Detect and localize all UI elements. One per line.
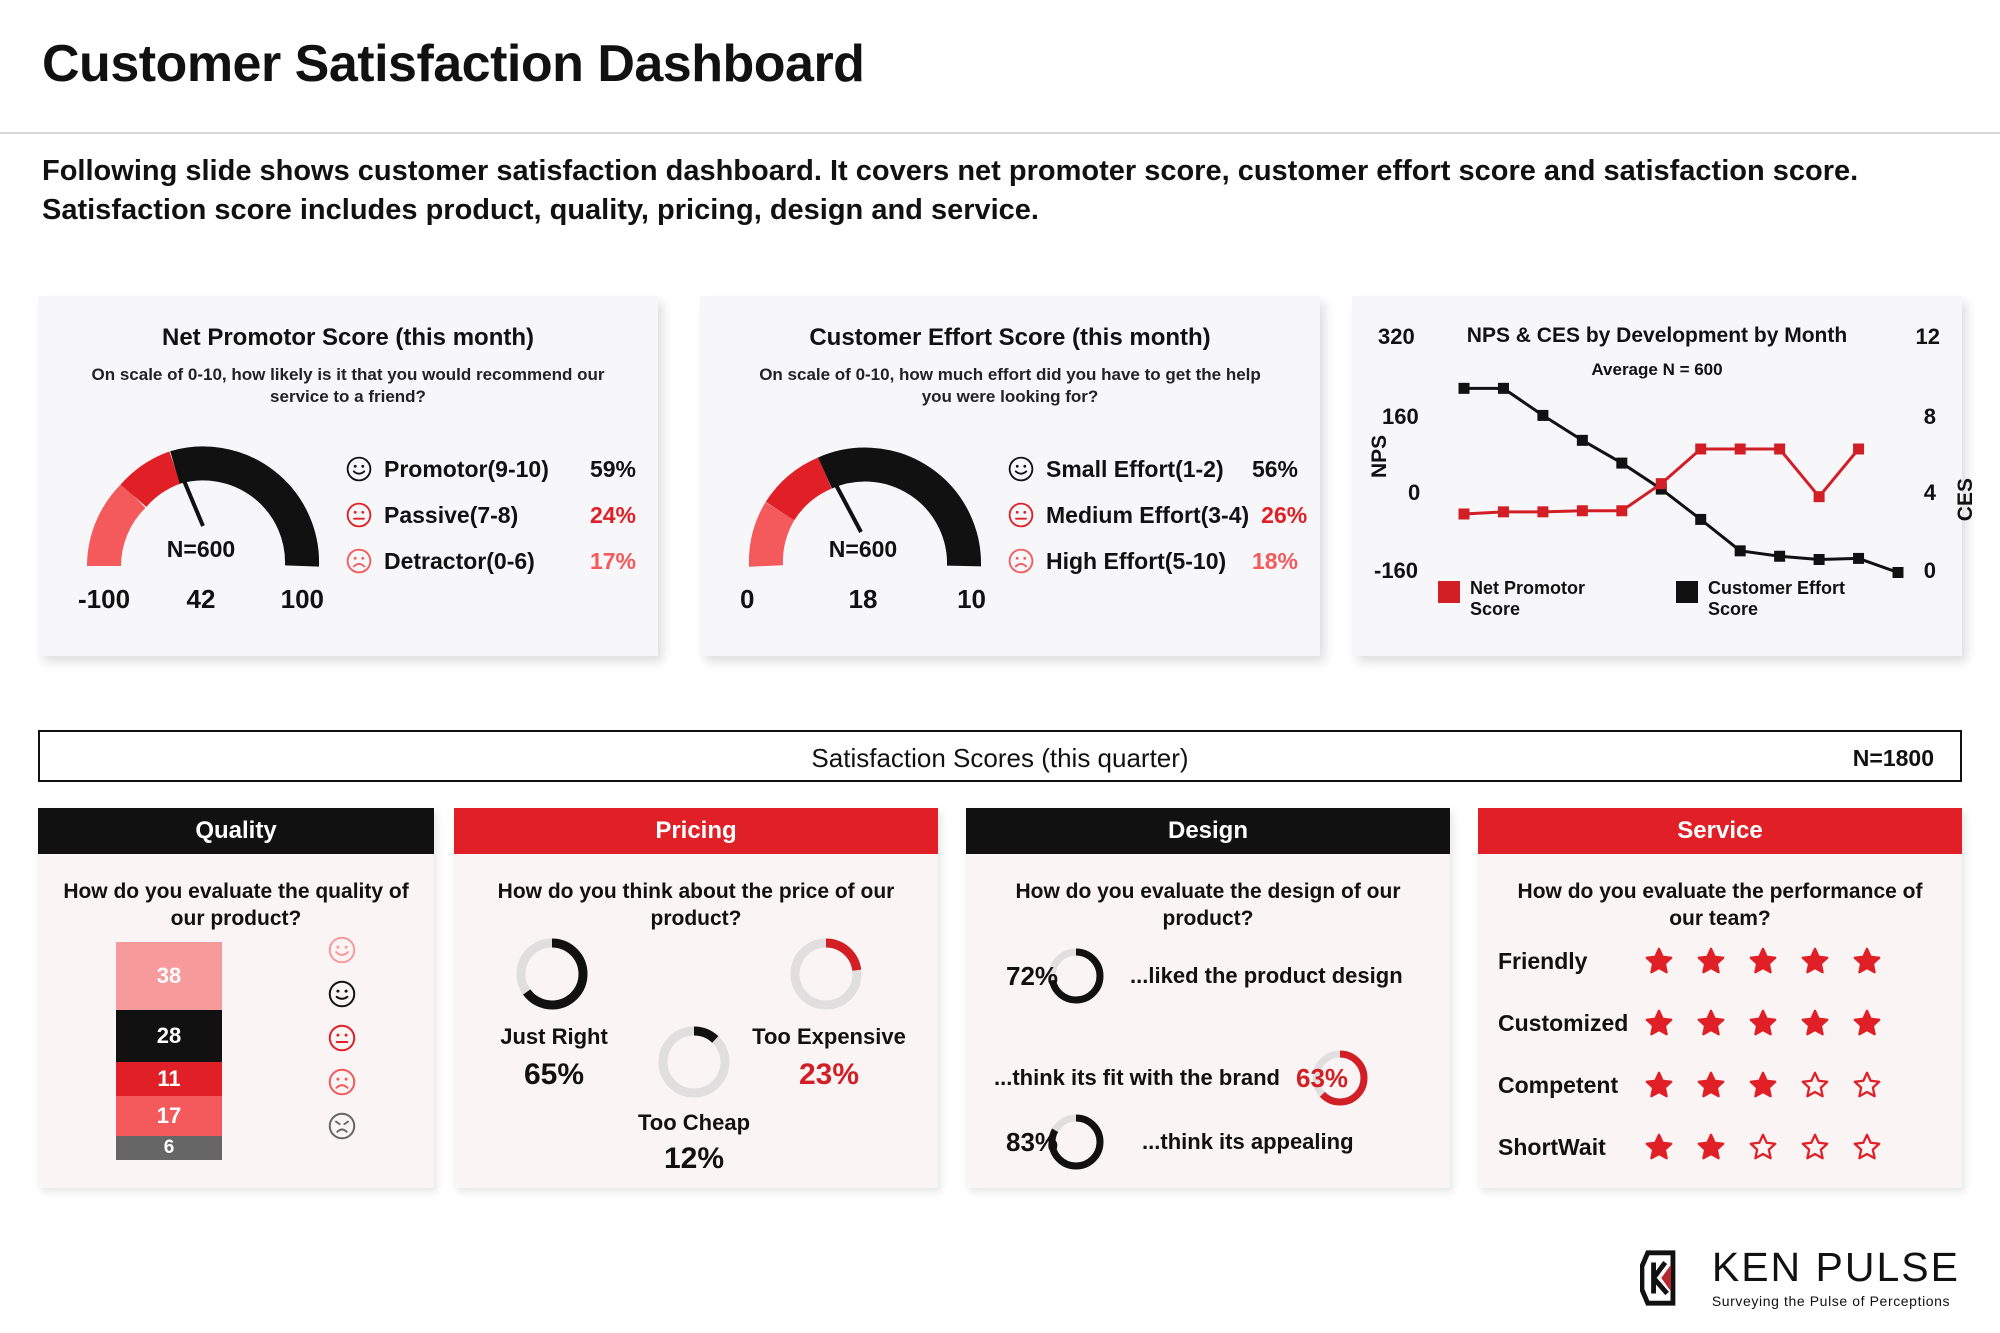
quality-question: How do you evaluate the quality of our p…: [38, 878, 434, 933]
service-question: How do you evaluate the performance of o…: [1478, 878, 1962, 933]
sad-face-icon: [328, 1068, 356, 1096]
line-chart-y-axis-label: NPS: [1368, 435, 1392, 478]
satisfaction-bar-title: Satisfaction Scores (this quarter): [40, 743, 1960, 774]
data-point-marker: [1774, 444, 1785, 455]
smile-face-icon: [346, 456, 372, 482]
donut-value-too-cheap: 12%: [604, 1142, 784, 1176]
donut-value-just-right: 65%: [464, 1058, 644, 1092]
pricing-question: How do you think about the price of our …: [454, 878, 938, 933]
quality-stacked-bar: 38 28 11 17 6: [116, 942, 222, 1160]
star-filled-icon: [1644, 1132, 1674, 1162]
y-tick-0: 0: [1408, 480, 1420, 506]
star-filled-icon: [1696, 1070, 1726, 1100]
ces-legend: Small Effort(1-2) 56% Medium Effort(3-4)…: [1008, 446, 1298, 584]
service-label: Friendly: [1498, 948, 1638, 975]
stack-segment: 6: [116, 1136, 222, 1160]
star-empty-icon: [1852, 1132, 1882, 1162]
star-filled-icon: [1800, 946, 1830, 976]
star-empty-icon: [1852, 1070, 1882, 1100]
design-percent: 63%: [1296, 1063, 1348, 1094]
star-empty-icon: [1748, 1132, 1778, 1162]
design-row-appealing: 83% ...think its appealing: [1006, 1110, 1354, 1174]
legend-label: Customer Effort Score: [1708, 578, 1858, 619]
ces-swatch-icon: [1676, 581, 1698, 603]
smile-face-icon: [328, 980, 356, 1008]
logo-text-block: KEN PULSE Surveying the Pulse of Percept…: [1712, 1247, 1960, 1309]
nps-ces-line-chart-card: NPS & CES by Development by Month Averag…: [1352, 296, 1962, 656]
stack-segment: 28: [116, 1010, 222, 1062]
legend-percent: 17%: [590, 548, 636, 575]
service-card: Service How do you evaluate the performa…: [1478, 808, 1962, 1188]
design-text: ...liked the product design: [1130, 963, 1403, 989]
legend-percent: 26%: [1261, 502, 1307, 529]
logo-name: KEN PULSE: [1712, 1247, 1960, 1288]
legend-label: Promotor(9-10): [384, 456, 549, 483]
data-point-marker: [1853, 444, 1864, 455]
satisfaction-scores-bar: Satisfaction Scores (this quarter) N=180…: [38, 730, 1962, 782]
data-point-marker: [1814, 554, 1825, 565]
star-filled-icon: [1748, 1070, 1778, 1100]
line-chart-plot: [1456, 332, 1906, 592]
y2-tick-4: 4: [1924, 480, 1936, 506]
page-description: Following slide shows customer satisfact…: [42, 152, 1922, 229]
donut-value-too-expensive: 23%: [734, 1058, 924, 1092]
donut-too-cheap: [654, 1022, 734, 1102]
quality-face-scale: [328, 936, 356, 1140]
star-rating: [1644, 1070, 1882, 1100]
star-filled-icon: [1748, 1008, 1778, 1038]
design-row-liked: 72% ...liked the product design: [1006, 944, 1403, 1008]
legend-label: Medium Effort(3-4): [1046, 502, 1249, 529]
star-filled-icon: [1644, 1070, 1674, 1100]
data-point-marker: [1814, 491, 1825, 502]
nps-gauge: -100 100 N=600 42: [56, 416, 346, 636]
legend-percent: 18%: [1252, 548, 1298, 575]
nps-legend: Promotor(9-10) 59% Passive(7-8) 24% De: [346, 446, 636, 584]
service-label: ShortWait: [1498, 1134, 1638, 1161]
line-chart-y2-axis-label: CES: [1954, 478, 1978, 521]
net-promotor-score-card: Net Promotor Score (this month) On scale…: [38, 296, 658, 656]
ces-gauge: 0 10 N=600 18: [718, 416, 1008, 636]
ces-card-title: Customer Effort Score (this month): [700, 324, 1320, 352]
page-title: Customer Satisfaction Dashboard: [42, 34, 864, 94]
legend-item-detractor: Detractor(0-6) 17%: [346, 538, 636, 584]
data-point-marker: [1853, 553, 1864, 564]
data-point-marker: [1735, 444, 1746, 455]
legend-item-passive: Passive(7-8) 24%: [346, 492, 636, 538]
star-filled-icon: [1748, 946, 1778, 976]
quality-card: Quality How do you evaluate the quality …: [38, 808, 434, 1188]
service-row-customized: Customized: [1498, 1008, 1942, 1038]
data-point-marker: [1616, 505, 1627, 516]
service-card-header: Service: [1478, 808, 1962, 854]
data-point-marker: [1735, 545, 1746, 556]
donut-label-too-cheap: Too Cheap: [604, 1110, 784, 1136]
ces-card-subtitle: On scale of 0-10, how much effort did yo…: [700, 364, 1320, 409]
pricing-card-header: Pricing: [454, 808, 938, 854]
design-question: How do you evaluate the design of our pr…: [966, 878, 1450, 933]
legend-percent: 59%: [590, 456, 636, 483]
ces-gauge-value: 18: [718, 584, 1008, 615]
data-point-marker: [1577, 435, 1588, 446]
nps-gauge-value: 42: [56, 584, 346, 615]
data-point-marker: [1498, 383, 1509, 394]
legend-percent: 56%: [1252, 456, 1298, 483]
design-text: ...think its appealing: [1142, 1129, 1353, 1155]
design-card: Design How do you evaluate the design of…: [966, 808, 1450, 1188]
data-point-marker: [1695, 444, 1706, 455]
design-text: ...think its fit with the brand: [994, 1065, 1280, 1091]
data-point-marker: [1459, 383, 1470, 394]
data-point-marker: [1695, 514, 1706, 525]
design-percent: 83%: [1006, 1127, 1058, 1158]
data-point-marker: [1498, 506, 1509, 517]
star-filled-icon: [1696, 946, 1726, 976]
legend-item-small-effort: Small Effort(1-2) 56%: [1008, 446, 1298, 492]
nps-gauge-n: N=600: [56, 536, 346, 563]
service-label: Customized: [1498, 1010, 1638, 1037]
y2-tick-0: 0: [1924, 558, 1936, 584]
donut-label-just-right: Just Right: [464, 1024, 644, 1050]
data-point-marker: [1893, 567, 1904, 578]
happy-face-icon: [328, 936, 356, 964]
data-point-marker: [1459, 509, 1470, 520]
star-filled-icon: [1644, 1008, 1674, 1038]
stack-segment: 17: [116, 1096, 222, 1136]
data-point-marker: [1774, 551, 1785, 562]
dashboard-slide: Customer Satisfaction Dashboard Followin…: [0, 0, 2000, 1333]
legend-item-promotor: Promotor(9-10) 59%: [346, 446, 636, 492]
data-point-marker: [1537, 506, 1548, 517]
legend-item-medium-effort: Medium Effort(3-4) 26%: [1008, 492, 1298, 538]
legend-label: Net Promotor Score: [1470, 578, 1620, 619]
data-point-marker: [1537, 410, 1548, 421]
y-tick-320: 320: [1378, 324, 1415, 350]
neutral-face-icon: [328, 1024, 356, 1052]
design-card-header: Design: [966, 808, 1450, 854]
quality-card-header: Quality: [38, 808, 434, 854]
nps-swatch-icon: [1438, 581, 1460, 603]
stack-segment: 11: [116, 1062, 222, 1096]
ces-gauge-n: N=600: [718, 536, 1008, 563]
y-tick--160: -160: [1374, 558, 1418, 584]
pricing-card: Pricing How do you think about the price…: [454, 808, 938, 1188]
donut-too-expensive: [786, 934, 866, 1014]
satisfaction-bar-n: N=1800: [1853, 745, 1934, 772]
company-logo: KEN PULSE Surveying the Pulse of Percept…: [1640, 1247, 1960, 1309]
neutral-face-icon: [1008, 502, 1034, 528]
star-rating: [1644, 1132, 1882, 1162]
donut-label-too-expensive: Too Expensive: [734, 1024, 924, 1050]
header-divider: [0, 132, 2000, 134]
star-filled-icon: [1644, 946, 1674, 976]
ken-pulse-mark-icon: [1640, 1247, 1702, 1309]
legend-label: Small Effort(1-2): [1046, 456, 1224, 483]
y2-tick-8: 8: [1924, 404, 1936, 430]
star-rating: [1644, 1008, 1882, 1038]
star-filled-icon: [1852, 946, 1882, 976]
data-point-marker: [1577, 505, 1588, 516]
star-empty-icon: [1800, 1070, 1830, 1100]
legend-label: Passive(7-8): [384, 502, 518, 529]
stack-segment: 38: [116, 942, 222, 1010]
star-filled-icon: [1696, 1132, 1726, 1162]
service-row-friendly: Friendly: [1498, 946, 1942, 976]
legend-item-high-effort: High Effort(5-10) 18%: [1008, 538, 1298, 584]
y2-tick-12: 12: [1916, 324, 1940, 350]
donut-just-right: [512, 934, 592, 1014]
angry-face-icon: [328, 1112, 356, 1140]
line-chart-legend: Net Promotor Score Customer Effort Score: [1438, 578, 1858, 619]
service-row-shortwait: ShortWait: [1498, 1132, 1942, 1162]
logo-tagline: Surveying the Pulse of Perceptions: [1712, 1293, 1960, 1309]
star-filled-icon: [1696, 1008, 1726, 1038]
customer-effort-score-card: Customer Effort Score (this month) On sc…: [700, 296, 1320, 656]
star-filled-icon: [1852, 1008, 1882, 1038]
star-filled-icon: [1800, 1008, 1830, 1038]
sad-face-icon: [1008, 548, 1034, 574]
data-point-marker: [1656, 478, 1667, 489]
sad-face-icon: [346, 548, 372, 574]
neutral-face-icon: [346, 502, 372, 528]
star-rating: [1644, 946, 1882, 976]
legend-item-ces: Customer Effort Score: [1676, 578, 1858, 619]
nps-card-subtitle: On scale of 0-10, how likely is it that …: [38, 364, 658, 409]
service-label: Competent: [1498, 1072, 1638, 1099]
service-row-competent: Competent: [1498, 1070, 1942, 1100]
design-row-brand-fit: ...think its fit with the brand 63%: [994, 1046, 1372, 1110]
smile-face-icon: [1008, 456, 1034, 482]
y-tick-160: 160: [1382, 404, 1419, 430]
data-point-marker: [1616, 458, 1627, 469]
legend-label: High Effort(5-10): [1046, 548, 1226, 575]
legend-percent: 24%: [590, 502, 636, 529]
star-empty-icon: [1800, 1132, 1830, 1162]
nps-card-title: Net Promotor Score (this month): [38, 324, 658, 352]
design-percent: 72%: [1006, 961, 1058, 992]
legend-label: Detractor(0-6): [384, 548, 535, 575]
legend-item-nps: Net Promotor Score: [1438, 578, 1620, 619]
